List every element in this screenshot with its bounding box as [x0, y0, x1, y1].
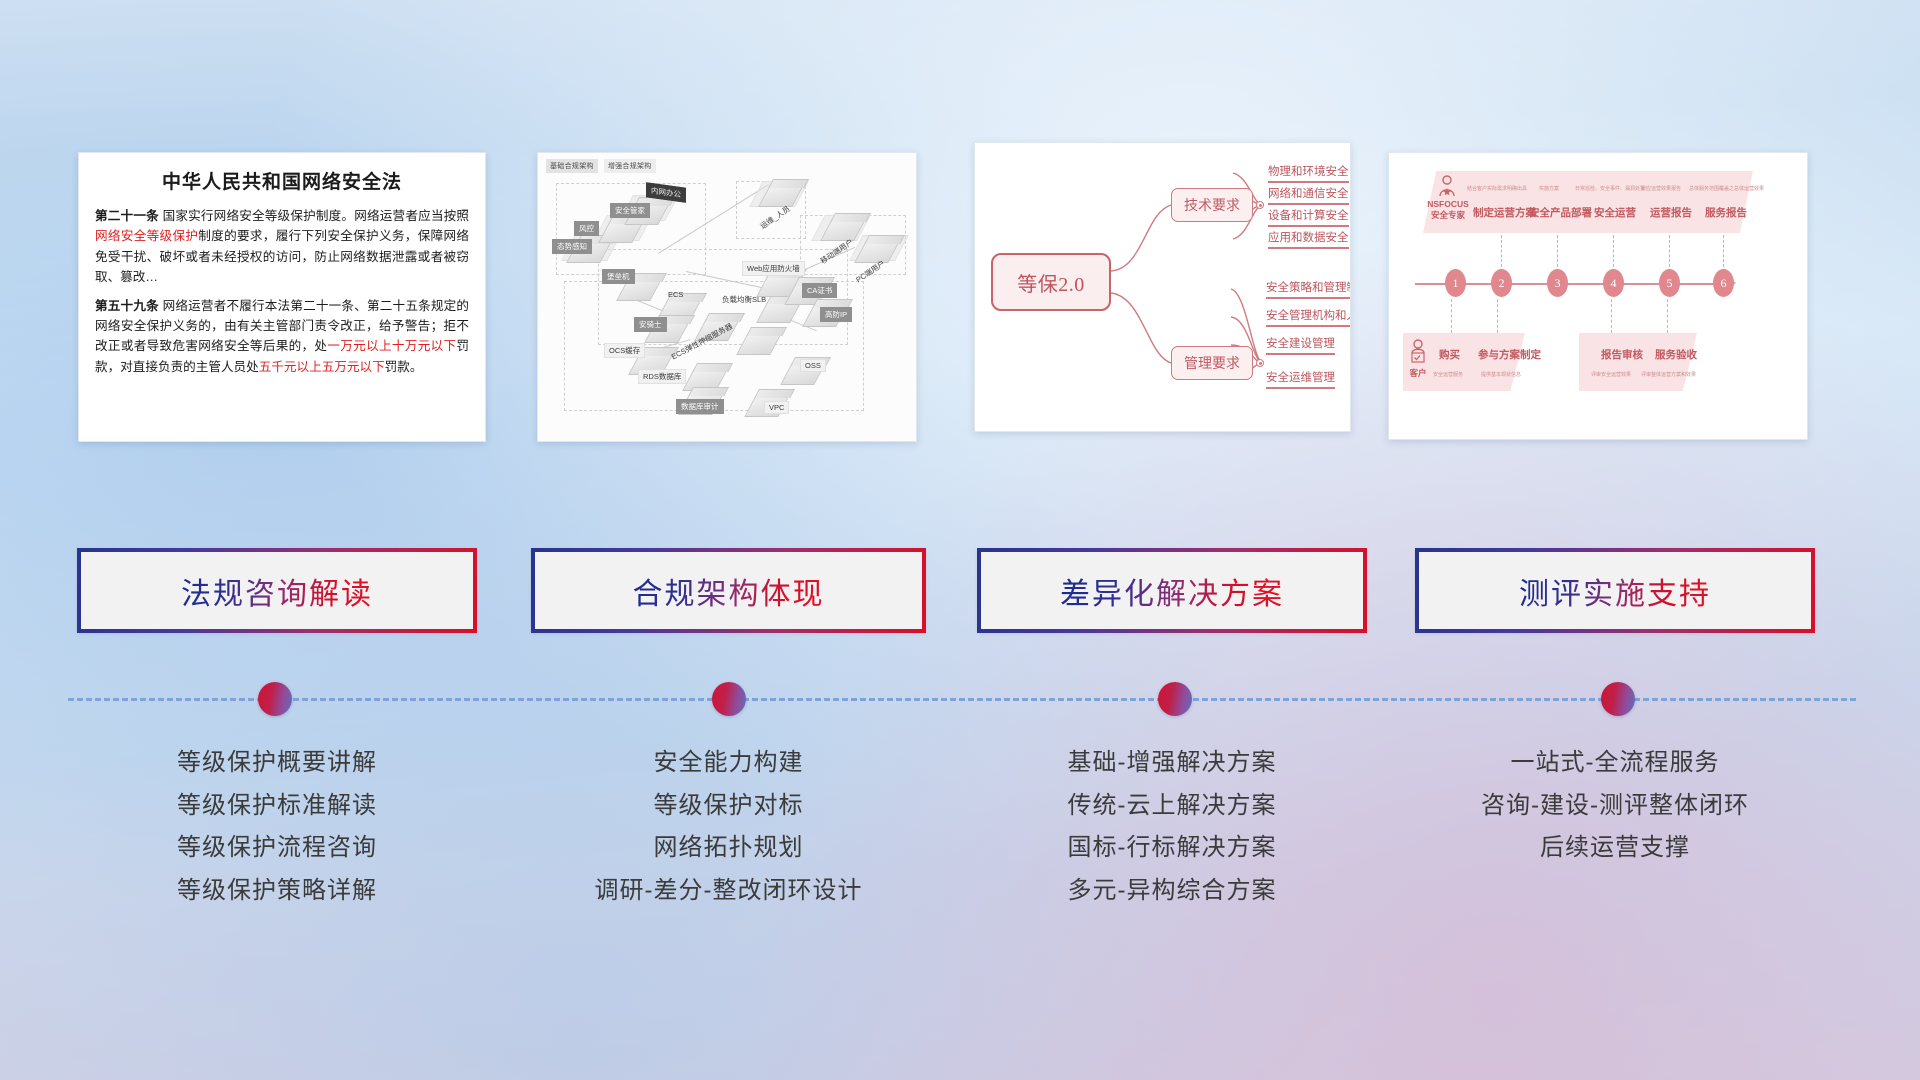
- slide-canvas: 中华人民共和国网络安全法 第二十一条 国家实行网络安全等级保护制度。网络运营者应…: [0, 0, 1920, 1080]
- timeline-marker-dot-2[interactable]: [712, 682, 746, 716]
- title-box-differentiated-solution[interactable]: 差异化解决方案: [977, 548, 1367, 633]
- list-item: 传统-云上解决方案: [977, 785, 1367, 828]
- timeline-marker-dot-1[interactable]: [258, 682, 292, 716]
- list-item: 安全能力构建: [531, 742, 926, 785]
- feature-list-assessment-support: 一站式-全流程服务 咨询-建设-测评整体闭环 后续运营支撑: [1415, 742, 1815, 870]
- title-label-4: 测评实施支持: [1519, 569, 1711, 613]
- title-label-2: 合规架构体现: [633, 569, 825, 613]
- feature-list-differentiated-solution: 基础-增强解决方案 传统-云上解决方案 国标-行标解决方案 多元-异构综合方案: [977, 742, 1367, 913]
- list-item: 一站式-全流程服务: [1415, 742, 1815, 785]
- list-item: 多元-异构综合方案: [977, 870, 1367, 913]
- list-item: 网络拓扑规划: [531, 827, 926, 870]
- list-item: 咨询-建设-测评整体闭环: [1415, 785, 1815, 828]
- list-item: 后续运营支撑: [1415, 827, 1815, 870]
- timeline-dashed-axis: [68, 698, 1856, 701]
- title-box-legal-consulting[interactable]: 法规咨询解读: [77, 548, 477, 633]
- list-item: 等级保护标准解读: [77, 785, 477, 828]
- list-item: 等级保护流程咨询: [77, 827, 477, 870]
- feature-list-legal-consulting: 等级保护概要讲解 等级保护标准解读 等级保护流程咨询 等级保护策略详解: [77, 742, 477, 913]
- title-box-assessment-support[interactable]: 测评实施支持: [1415, 548, 1815, 633]
- title-row: 法规咨询解读 合规架构体现 差异化解决方案 测评实施支持: [0, 0, 1920, 1080]
- list-item: 等级保护对标: [531, 785, 926, 828]
- timeline-marker-dot-3[interactable]: [1158, 682, 1192, 716]
- list-item: 基础-增强解决方案: [977, 742, 1367, 785]
- list-item: 等级保护概要讲解: [77, 742, 477, 785]
- title-label-1: 法规咨询解读: [181, 569, 373, 613]
- list-item: 调研-差分-整改闭环设计: [531, 870, 926, 913]
- title-box-compliance-architecture[interactable]: 合规架构体现: [531, 548, 926, 633]
- list-item: 国标-行标解决方案: [977, 827, 1367, 870]
- feature-list-compliance-architecture: 安全能力构建 等级保护对标 网络拓扑规划 调研-差分-整改闭环设计: [531, 742, 926, 913]
- timeline-marker-dot-4[interactable]: [1601, 682, 1635, 716]
- list-item: 等级保护策略详解: [77, 870, 477, 913]
- title-label-3: 差异化解决方案: [1060, 569, 1284, 613]
